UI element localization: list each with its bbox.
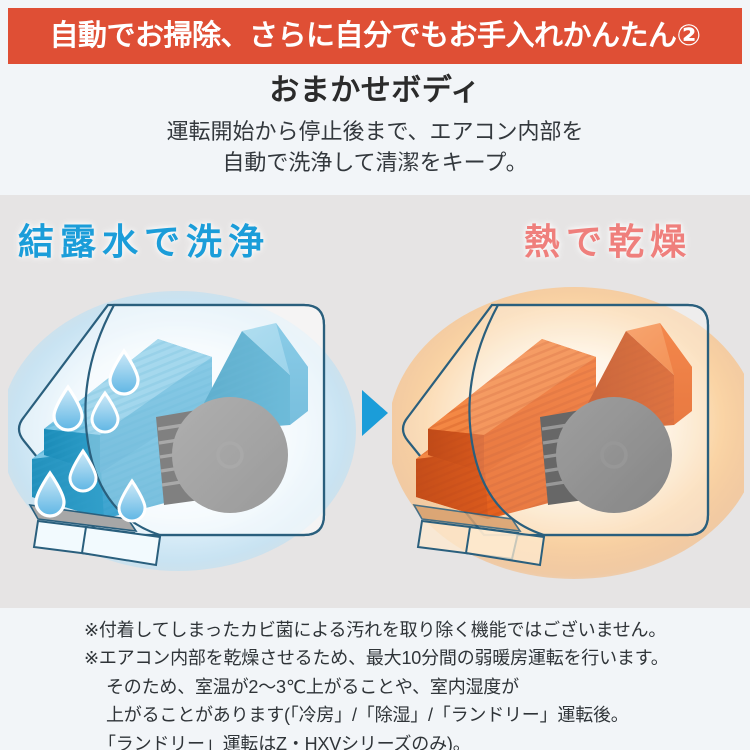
left-illustration xyxy=(8,283,360,583)
footnote-line: ※エアコン内部を乾燥させるため、最大10分間の弱暖房運転を行います。 xyxy=(0,644,750,672)
banner-title: 自動でお掃除、さらに自分でもお手入れかんたん② xyxy=(49,22,700,51)
footnote-line: そのため、室温が2〜3℃上がることや、室内湿度が xyxy=(0,673,750,701)
infographic-page: 自動でお掃除、さらに自分でもお手入れかんたん② おまかせボディ 運転開始から停止… xyxy=(0,0,750,750)
transition-arrow xyxy=(356,387,392,439)
illustration-panel: 結露水で洗浄 熱で乾燥 xyxy=(0,195,750,608)
right-illustration xyxy=(392,283,744,583)
intro-section: おまかせボディ 運転開始から停止後まで、エアコン内部を 自動で洗浄して清潔をキー… xyxy=(0,72,750,179)
page-title: おまかせボディ xyxy=(0,72,750,110)
arrow-right-icon xyxy=(362,390,388,436)
intro-description: 運転開始から停止後まで、エアコン内部を 自動で洗浄して清潔をキープ。 xyxy=(0,116,750,180)
footnotes-section: ※付着してしまったカビ菌による汚れを取り除く機能ではございません。 ※エアコン内… xyxy=(0,616,750,750)
right-section-heading: 熱で乾燥 xyxy=(524,213,692,265)
intro-description-line: 運転開始から停止後まで、エアコン内部を xyxy=(0,116,750,148)
footnote-line: 上がることがあります(「冷房」/「除湿」/「ランドリー」運転後。 xyxy=(0,701,750,729)
header-banner: 自動でお掃除、さらに自分でもお手入れかんたん② xyxy=(8,8,742,64)
left-section-heading: 結露水で洗浄 xyxy=(18,213,270,265)
footnote-line: 「ランドリー」運転はZ・HXVシリーズのみ)。 xyxy=(0,730,750,750)
intro-description-line: 自動で洗浄して清潔をキープ。 xyxy=(0,147,750,179)
footnote-line: ※付着してしまったカビ菌による汚れを取り除く機能ではございません。 xyxy=(0,616,750,644)
